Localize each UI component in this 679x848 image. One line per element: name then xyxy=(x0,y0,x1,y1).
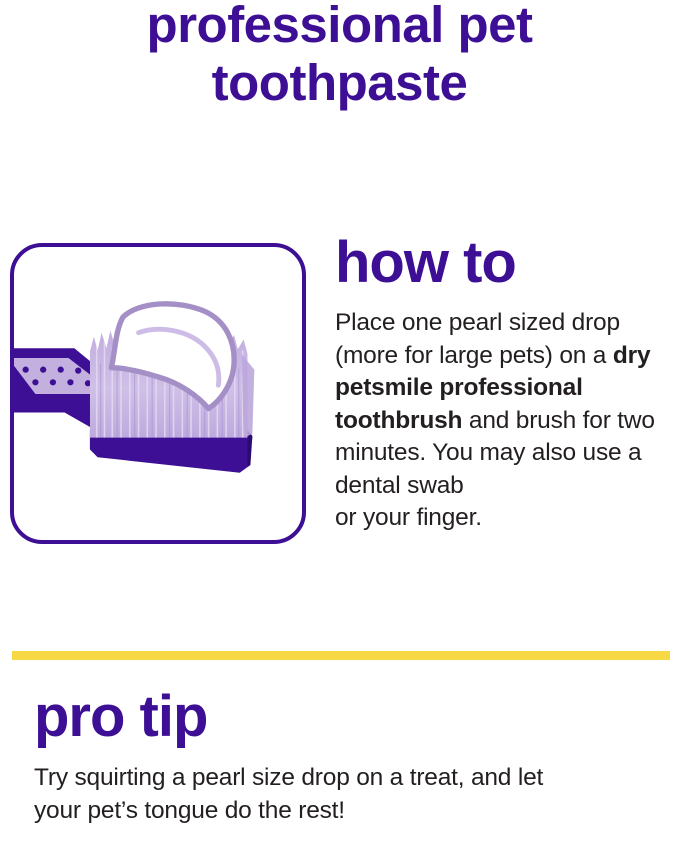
how-to-heading: how to xyxy=(335,232,665,294)
illustration-frame xyxy=(10,243,306,544)
page-title-line-1: professional pet xyxy=(0,0,679,54)
page-title: professional pet toothpaste xyxy=(0,0,679,112)
how-to-text-column: how to Place one pearl sized drop (more … xyxy=(335,232,665,535)
how-to-section: how to Place one pearl sized drop (more … xyxy=(0,232,679,552)
pro-tip-section: pro tip Try squirting a pearl size drop … xyxy=(34,686,654,827)
how-to-body-part-1: Place one pearl sized drop (more for lar… xyxy=(335,309,620,369)
how-to-body-part-3: or your finger. xyxy=(335,504,482,531)
toothbrush-with-toothpaste-illustration xyxy=(14,247,302,540)
petsmile-instruction-panel: { "title": { "line1": "professional pet"… xyxy=(0,0,679,848)
pro-tip-body-line-2: your pet’s tongue do the rest! xyxy=(34,797,345,824)
yellow-divider xyxy=(12,651,670,660)
pro-tip-heading: pro tip xyxy=(34,686,654,748)
page-title-line-2: toothpaste xyxy=(0,54,679,112)
pro-tip-body: Try squirting a pearl size drop on a tre… xyxy=(34,762,654,827)
pro-tip-body-line-1: Try squirting a pearl size drop on a tre… xyxy=(34,764,543,791)
how-to-body: Place one pearl sized drop (more for lar… xyxy=(335,307,665,535)
